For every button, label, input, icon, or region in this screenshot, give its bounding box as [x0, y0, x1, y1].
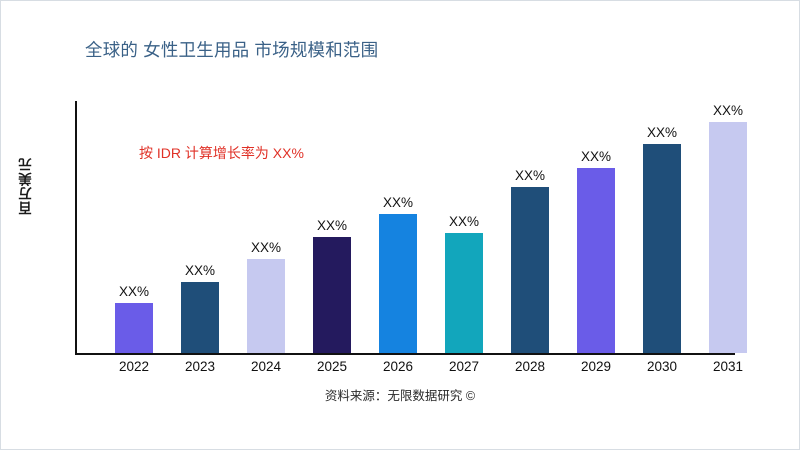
bar-value-label: XX% — [581, 149, 611, 164]
x-axis-tick-label: 2030 — [629, 359, 695, 374]
plot-area: XX%XX%XX%XX%XX%XX%XX%XX%XX%XX% — [75, 101, 797, 353]
chart-title: 全球的 女性卫生用品 市场规模和范围 — [85, 37, 378, 62]
bar-value-label: XX% — [251, 240, 281, 255]
bar-group: XX% — [167, 101, 233, 353]
bar-value-label: XX% — [647, 125, 677, 140]
bar-group: XX% — [365, 101, 431, 353]
x-axis-tick-label: 2027 — [431, 359, 497, 374]
x-axis-line — [75, 353, 735, 355]
bar-value-label: XX% — [185, 263, 215, 278]
bar[interactable] — [379, 214, 417, 353]
bar-value-label: XX% — [383, 195, 413, 210]
bar[interactable] — [115, 303, 153, 353]
bar-group: XX% — [101, 101, 167, 353]
bar-value-label: XX% — [713, 103, 743, 118]
x-axis-tick-label: 2031 — [695, 359, 761, 374]
bar-group: XX% — [431, 101, 497, 353]
bar-group: XX% — [299, 101, 365, 353]
bar[interactable] — [313, 237, 351, 353]
bar[interactable] — [511, 187, 549, 353]
y-axis-title: 百万美元 — [17, 157, 47, 215]
bar[interactable] — [709, 122, 747, 353]
x-axis-tick-label: 2028 — [497, 359, 563, 374]
bar[interactable] — [247, 259, 285, 353]
x-axis-tick-label: 2022 — [101, 359, 167, 374]
source-note: 资料来源：无限数据研究 © — [1, 385, 799, 404]
bar-value-label: XX% — [119, 284, 149, 299]
bar-group: XX% — [497, 101, 563, 353]
bar-group: XX% — [563, 101, 629, 353]
x-axis-tick-label: 2023 — [167, 359, 233, 374]
x-axis-tick-label: 2024 — [233, 359, 299, 374]
bar[interactable] — [643, 144, 681, 353]
bar-group: XX% — [695, 101, 761, 353]
x-axis-tick-label: 2025 — [299, 359, 365, 374]
bar-value-label: XX% — [317, 218, 347, 233]
x-axis-tick-label: 2029 — [563, 359, 629, 374]
bar-group: XX% — [233, 101, 299, 353]
bar-group: XX% — [629, 101, 695, 353]
bar[interactable] — [181, 282, 219, 353]
bar-value-label: XX% — [515, 168, 545, 183]
bar[interactable] — [445, 233, 483, 353]
bar[interactable] — [577, 168, 615, 353]
chart-container: 全球的 女性卫生用品 市场规模和范围 百万美元 按 IDR 计算增长率为 XX%… — [0, 0, 800, 450]
bar-value-label: XX% — [449, 214, 479, 229]
x-axis-tick-label: 2026 — [365, 359, 431, 374]
